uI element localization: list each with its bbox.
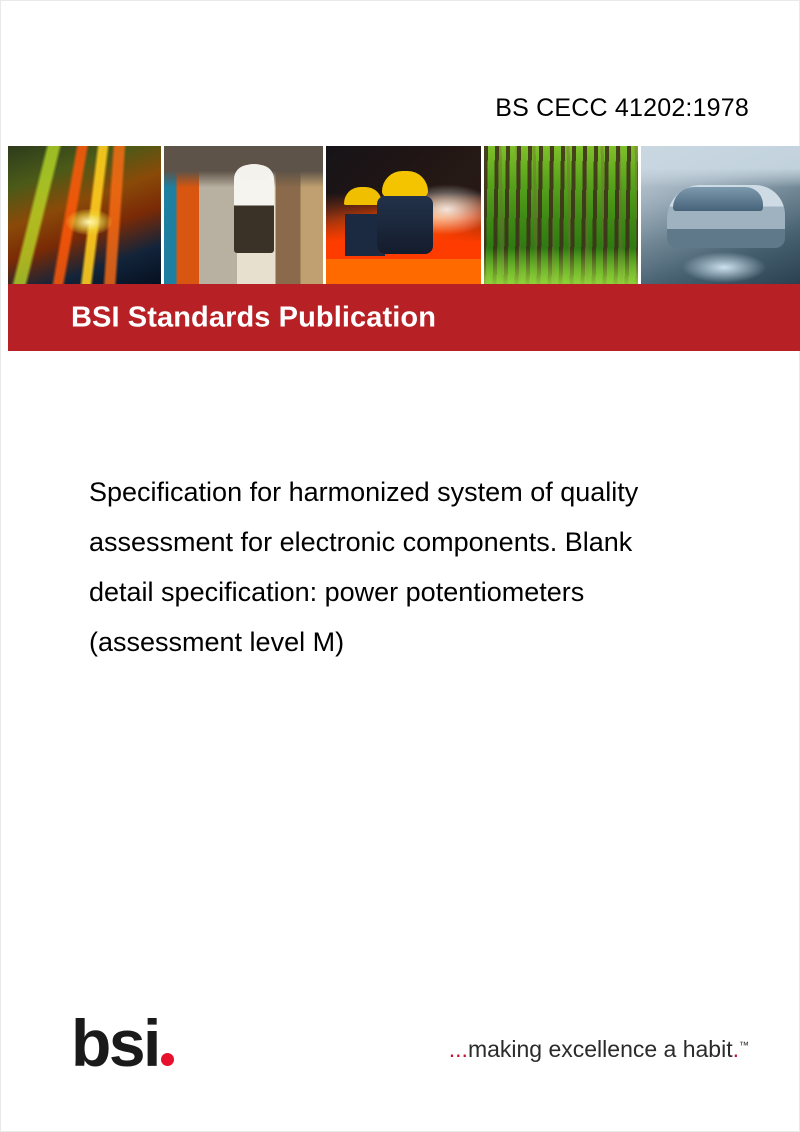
trademark-icon: ™ — [739, 1040, 749, 1051]
cover-image-forest — [484, 146, 641, 284]
bsi-logo: bsi — [71, 1007, 174, 1073]
publisher-banner: BSI Standards Publication — [8, 284, 800, 351]
title-line-1: Specification for harmonized system of q… — [89, 467, 759, 517]
publisher-banner-label: BSI Standards Publication — [71, 301, 436, 334]
title-line-2: assessment for electronic components. Bl… — [89, 517, 759, 567]
cover-image-warehouse-worker — [164, 146, 326, 284]
cover-image-firefighters — [326, 146, 484, 284]
cover-page: BS CECC 41202:1978 BSI Standards Publica… — [0, 0, 800, 1132]
cover-image-car-assembly-line — [641, 146, 800, 284]
tagline-text: making excellence a habit — [468, 1036, 733, 1062]
bsi-logo-dot-icon — [161, 1053, 174, 1066]
page-title: Specification for harmonized system of q… — [89, 467, 759, 667]
title-line-3: detail specification: power potentiomete… — [89, 567, 759, 617]
bsi-logo-wordmark: bsi — [71, 1014, 159, 1073]
standard-number: BS CECC 41202:1978 — [495, 94, 749, 123]
bsi-tagline: ...making excellence a habit.™ — [449, 1036, 749, 1063]
tagline-ellipsis: ... — [449, 1036, 468, 1062]
cover-image-strip — [8, 146, 800, 284]
title-line-4: (assessment level M) — [89, 617, 759, 667]
cover-image-traffic-light-trails — [8, 146, 164, 284]
